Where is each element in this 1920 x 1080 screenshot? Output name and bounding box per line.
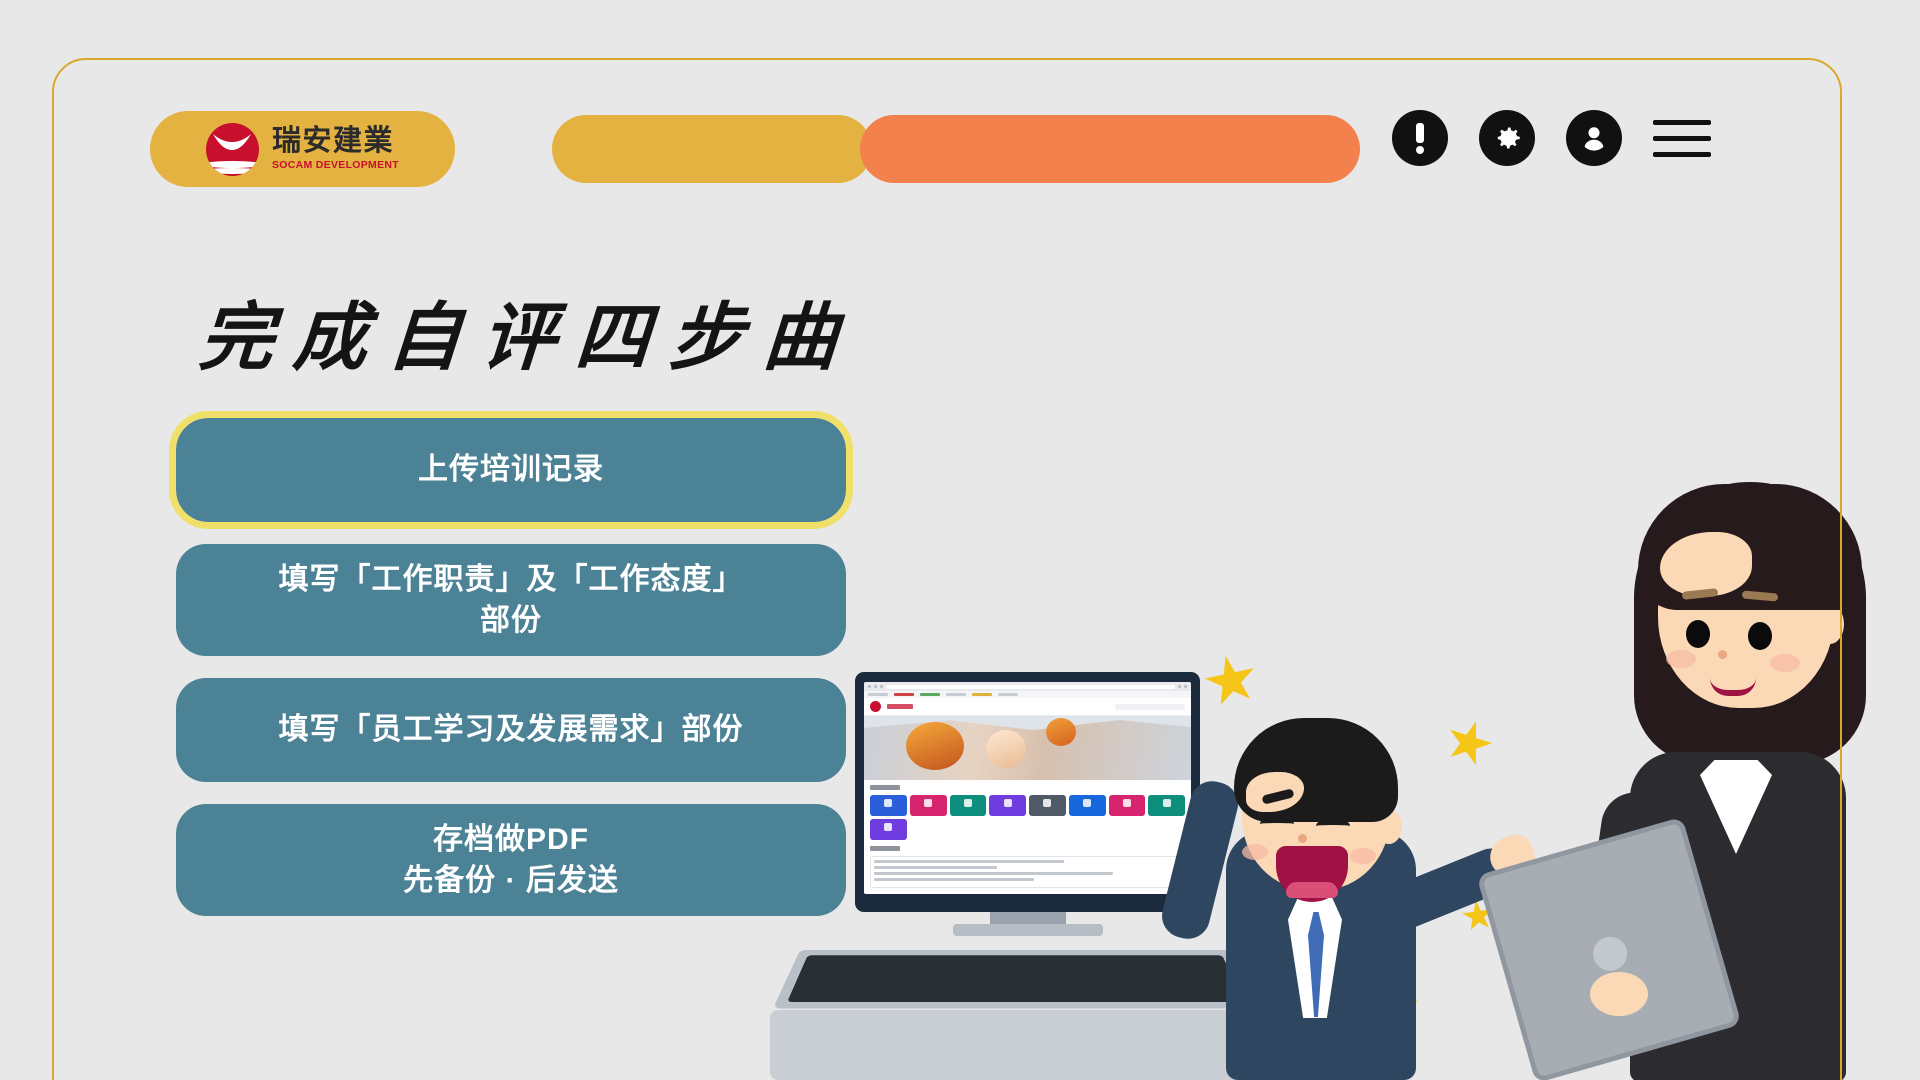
tablet-device xyxy=(1476,817,1741,1080)
header-yellow-bar[interactable] xyxy=(552,115,872,183)
portal-tile xyxy=(910,795,947,816)
bird-glyph xyxy=(212,133,252,153)
portal-tile xyxy=(870,795,907,816)
monitor-screen xyxy=(864,682,1191,894)
alert-icon[interactable] xyxy=(1392,110,1448,166)
page-header: 瑞安建業 SOCAM DEVELOPMENT xyxy=(52,58,1842,198)
socam-bird-logo-icon xyxy=(206,123,259,176)
brand-logo-text: 瑞安建業 SOCAM DEVELOPMENT xyxy=(272,127,399,171)
desk-surface xyxy=(770,1010,1290,1080)
sparkle-star xyxy=(1380,981,1421,1022)
portal-tile xyxy=(1109,795,1146,816)
slide-stage: 瑞安建業 SOCAM DEVELOPMENT xyxy=(0,0,1920,1080)
monitor-bezel xyxy=(855,672,1200,912)
portal-hero-banner xyxy=(864,716,1191,780)
sparkle-star xyxy=(1440,714,1498,772)
step-label: 上传培训记录 xyxy=(418,449,604,490)
portal-tile xyxy=(1148,795,1185,816)
header-orange-bar[interactable] xyxy=(860,115,1360,183)
portal-tile xyxy=(870,819,907,840)
step-label: 填写「员工学习及发展需求」部份 xyxy=(279,709,744,750)
portal-tile xyxy=(989,795,1026,816)
monitor-base xyxy=(953,924,1103,936)
keyboard xyxy=(773,950,1257,1009)
portal-quick-links xyxy=(864,780,1191,893)
step-item-1[interactable]: 上传培训记录 xyxy=(176,418,846,522)
brand-logo-pill[interactable]: 瑞安建業 SOCAM DEVELOPMENT xyxy=(150,111,455,187)
sparkle-star xyxy=(1460,898,1496,934)
sparkle-star xyxy=(1200,650,1262,712)
browser-toolbar xyxy=(864,682,1191,691)
gear-glyph xyxy=(1490,121,1524,155)
monitor-stand xyxy=(990,912,1066,926)
desktop-monitor xyxy=(855,672,1200,942)
header-icon-group xyxy=(1392,110,1711,166)
portal-search-box xyxy=(1115,704,1185,710)
cheering-businessman xyxy=(1190,660,1520,1080)
portal-tile-grid xyxy=(870,795,1185,840)
businesswoman-with-tablet xyxy=(1582,452,1920,1080)
portal-logo-icon xyxy=(870,701,881,712)
portal-tile xyxy=(1029,795,1066,816)
user-icon[interactable] xyxy=(1566,110,1622,166)
portal-tile xyxy=(950,795,987,816)
portal-tile xyxy=(1069,795,1106,816)
step-label: 存档做PDF 先备份 · 后发送 xyxy=(403,819,619,902)
step-item-4[interactable]: 存档做PDF 先备份 · 后发送 xyxy=(176,804,846,916)
user-glyph xyxy=(1577,121,1611,155)
portal-header xyxy=(864,698,1191,716)
step-item-3[interactable]: 填写「员工学习及发展需求」部份 xyxy=(176,678,846,782)
browser-url-bar xyxy=(886,685,1175,689)
steps-list: 上传培训记录 填写「工作职责」及「工作态度」 部份 填写「员工学习及发展需求」部… xyxy=(176,418,846,938)
hamburger-menu-icon[interactable] xyxy=(1653,120,1711,157)
brand-name-cn: 瑞安建業 xyxy=(272,127,399,156)
gear-icon[interactable] xyxy=(1479,110,1535,166)
page-title: 完成自评四步曲 xyxy=(196,278,861,385)
step-label: 填写「工作职责」及「工作态度」 部份 xyxy=(279,559,744,642)
brand-name-en: SOCAM DEVELOPMENT xyxy=(272,160,399,171)
step-item-2[interactable]: 填写「工作职责」及「工作态度」 部份 xyxy=(176,544,846,656)
portal-news-list xyxy=(870,846,1185,888)
browser-bookmarks-bar xyxy=(864,691,1191,698)
